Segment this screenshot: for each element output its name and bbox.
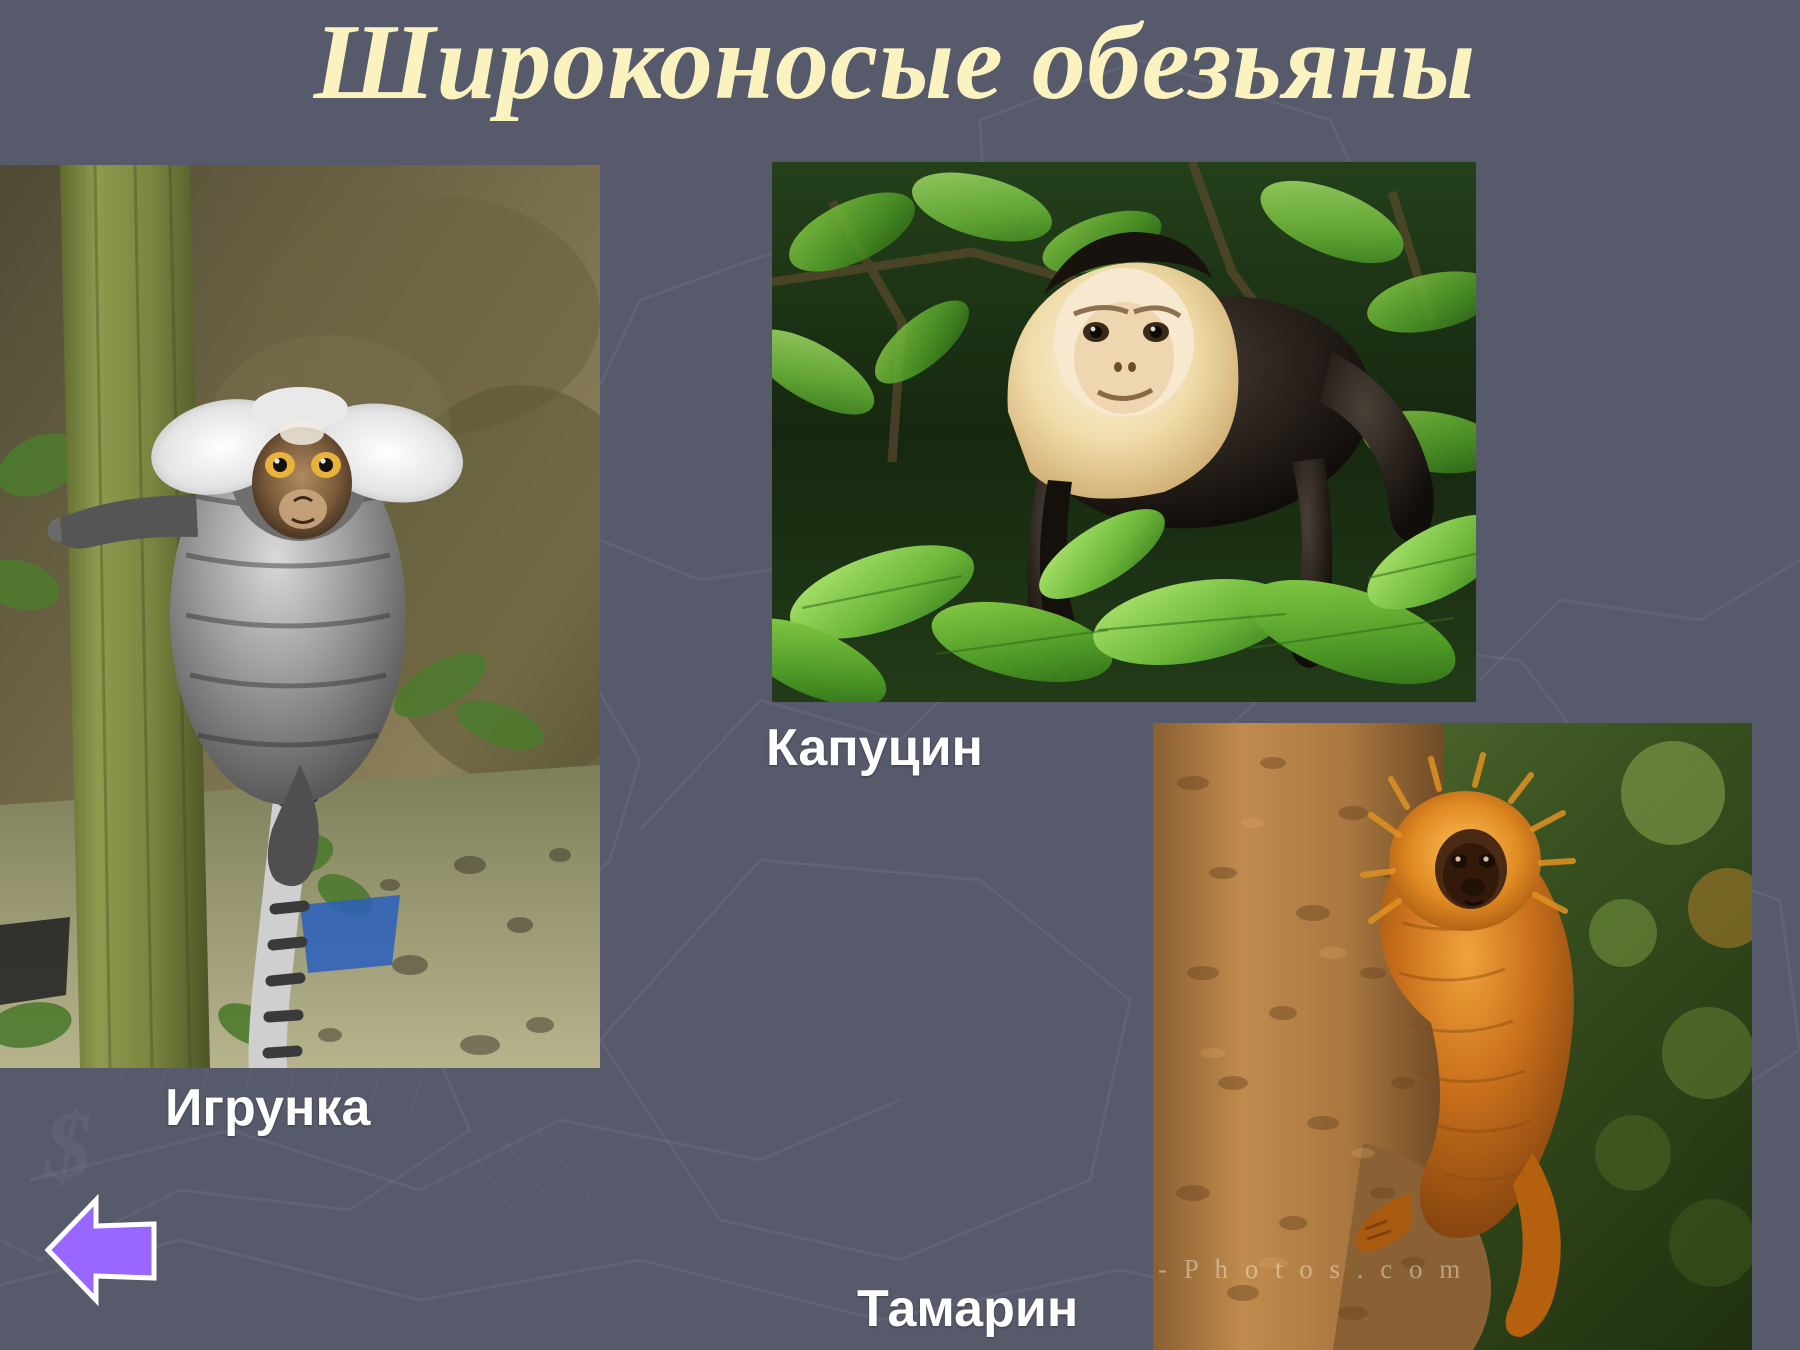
- caption-tamarin: Тамарин: [857, 1283, 1078, 1335]
- left-arrow-icon[interactable]: [44, 1194, 158, 1306]
- caption-marmoset: Игрунка: [165, 1082, 370, 1134]
- photo-capuchin: [772, 162, 1476, 702]
- slide-title: Широконосые обезьяны: [0, 6, 1790, 119]
- photo-tamarin: [1153, 723, 1752, 1350]
- slide-canvas: $ Широконосые обезьяны: [0, 0, 1800, 1350]
- back-button[interactable]: [44, 1194, 158, 1306]
- dollar-watermark: $: [44, 1090, 92, 1201]
- caption-capuchin: Капуцин: [766, 722, 983, 774]
- photo-marmoset: [0, 165, 600, 1068]
